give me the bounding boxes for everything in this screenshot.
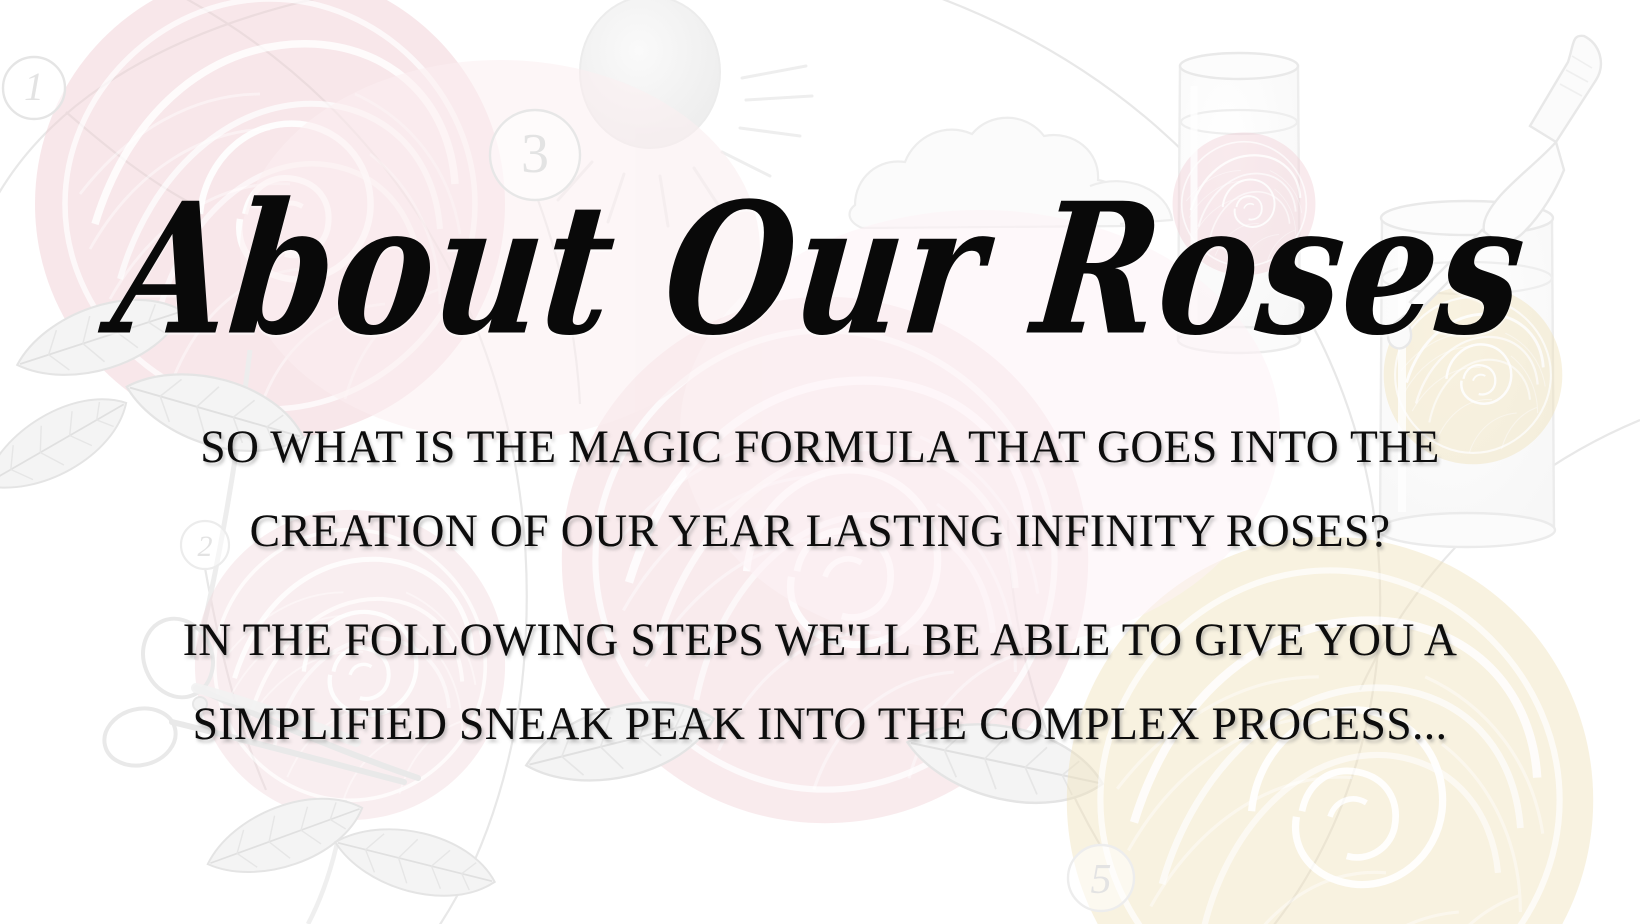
paragraph-2-line-1: IN THE FOLLOWING STEPS WE'LL BE ABLE TO … — [141, 598, 1499, 682]
slide-content: About Our Roses SO WHAT IS THE MAGIC FOR… — [0, 0, 1640, 924]
paragraph-1-line-2: CREATION OF OUR YEAR LASTING INFINITY RO… — [141, 489, 1499, 573]
slide-canvas: 1 3 2 5 About Our Roses SO WHAT IS — [0, 0, 1640, 924]
paragraph-2: IN THE FOLLOWING STEPS WE'LL BE ABLE TO … — [120, 598, 1520, 766]
paragraph-2-line-2: SIMPLIFIED SNEAK PEAK INTO THE COMPLEX P… — [141, 682, 1499, 766]
page-title: About Our Roses — [0, 179, 1640, 360]
paragraph-1: SO WHAT IS THE MAGIC FORMULA THAT GOES I… — [120, 405, 1520, 573]
paragraph-1-line-1: SO WHAT IS THE MAGIC FORMULA THAT GOES I… — [141, 405, 1499, 489]
